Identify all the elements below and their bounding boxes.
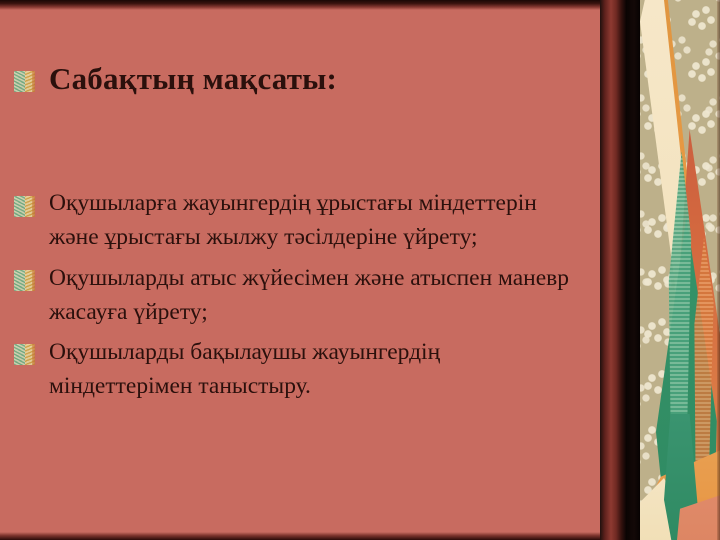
presentation-slide: Сабақтың мақсаты: Оқушыларға жауынгердің… (0, 0, 720, 540)
bullet-icon-tint (14, 196, 35, 217)
ornamental-floral-border (600, 0, 720, 540)
list-item: Оқушыларды бақылаушы жауынгердің міндетт… (14, 335, 598, 404)
decorative-square-bullet-icon (14, 196, 35, 217)
border-black-strip (626, 0, 640, 540)
decorative-square-bullet-icon (14, 270, 35, 291)
slide-content: Сабақтың мақсаты: Оқушыларға жауынгердің… (0, 0, 612, 540)
list-item-text: Оқушыларды бақылаушы жауынгердің міндетт… (49, 335, 589, 404)
decorative-square-bullet-icon (14, 344, 35, 365)
slide-title-row: Сабақтың мақсаты: (14, 62, 594, 97)
bullet-icon-tint (14, 344, 35, 365)
list-item-text: Оқушыларды атыс жүйесімен және атыспен м… (49, 261, 589, 330)
decorative-square-bullet-icon (14, 71, 35, 92)
list-item-text: Оқушыларға жауынгердің ұрыстағы міндетте… (49, 186, 589, 255)
bullet-icon-tint (14, 270, 35, 291)
page-title: Сабақтың мақсаты: (49, 62, 337, 97)
objectives-list: Оқушыларға жауынгердің ұрыстағы міндетте… (14, 186, 598, 410)
list-item: Оқушыларға жауынгердің ұрыстағы міндетте… (14, 186, 598, 255)
bullet-icon-tint (14, 71, 35, 92)
list-item: Оқушыларды атыс жүйесімен және атыспен м… (14, 261, 598, 330)
